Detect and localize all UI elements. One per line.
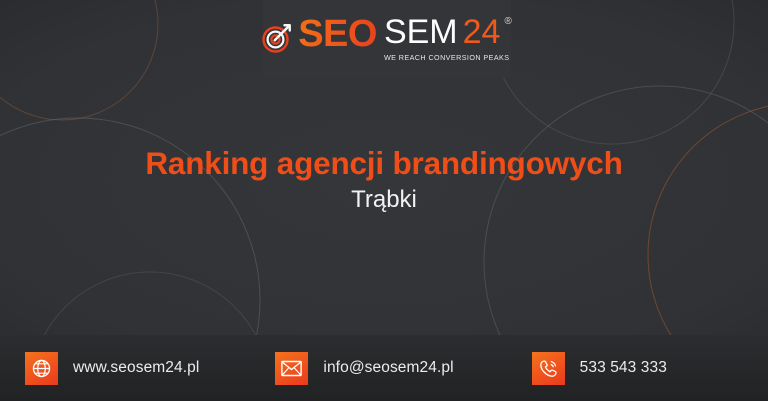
registered-trademark-icon: ® bbox=[504, 17, 511, 27]
envelope-icon bbox=[275, 352, 308, 385]
target-arrow-icon bbox=[262, 23, 292, 53]
contact-website[interactable]: www.seosem24.pl bbox=[25, 335, 199, 401]
page-subtitle: Trąbki bbox=[0, 187, 768, 213]
footer-contact-bar: www.seosem24.pl info@seosem24.pl 533 bbox=[0, 335, 768, 401]
logo-number-text: 24 bbox=[463, 15, 501, 49]
deco-circle-left-upper bbox=[0, 0, 158, 120]
contact-email[interactable]: info@seosem24.pl bbox=[275, 335, 453, 401]
phone-label: 533 543 333 bbox=[580, 359, 667, 377]
logo-tagline: WE REACH CONVERSION PEAKS bbox=[384, 53, 512, 62]
presentation-slide: SEO SEM 24 ® WE REACH CONVERSION PEAKS R… bbox=[0, 0, 768, 401]
phone-icon bbox=[532, 352, 565, 385]
headline-block: Ranking agencji brandingowych Trąbki bbox=[0, 146, 768, 214]
page-title: Ranking agencji brandingowych bbox=[0, 146, 768, 181]
brand-logo: SEO SEM 24 ® WE REACH CONVERSION PEAKS bbox=[263, 0, 511, 78]
deco-circle-center-top bbox=[490, 0, 734, 144]
website-label: www.seosem24.pl bbox=[73, 359, 199, 377]
globe-icon bbox=[25, 352, 58, 385]
contact-phone[interactable]: 533 543 333 bbox=[532, 335, 667, 401]
email-label: info@seosem24.pl bbox=[323, 359, 453, 377]
logo-seo-text: SEO bbox=[298, 15, 377, 53]
logo-sem-text: SEM bbox=[384, 15, 458, 49]
